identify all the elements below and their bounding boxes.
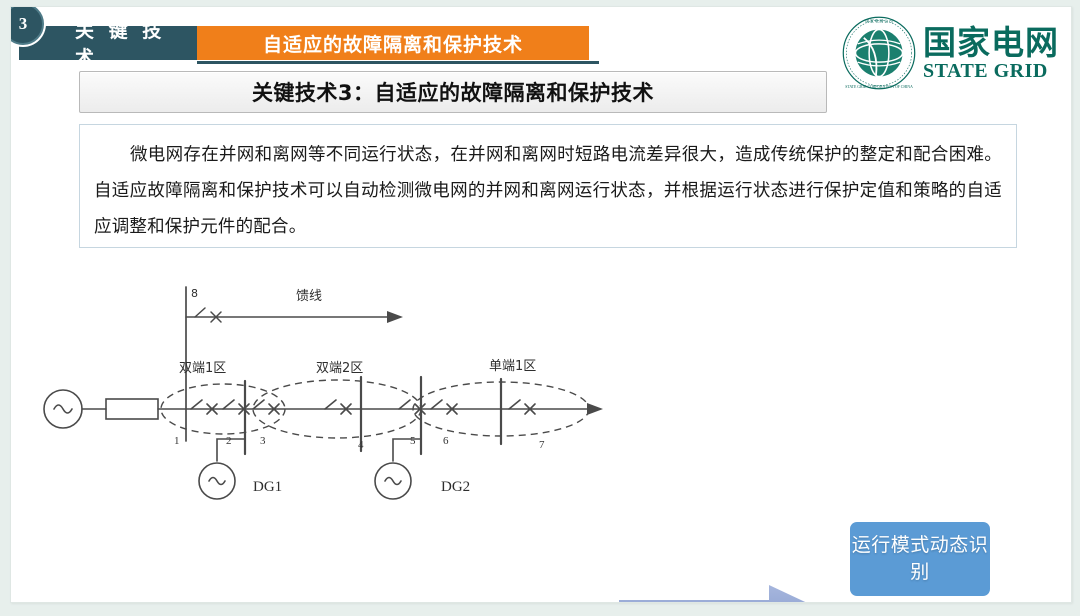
flow-box-mode-recognition: 运行模式动态识别 <box>850 522 990 596</box>
section-tab[interactable]: 关 键 技 术 <box>19 26 197 60</box>
page-title: 关键技术3：自适应的故障隔离和保护技术 <box>252 77 654 107</box>
topic-label: 自适应的故障隔离和保护技术 <box>263 30 523 57</box>
slide-canvas: 关 键 技 术 自适应的故障隔离和保护技术 3 国 家 电 网 公 司 STAT… <box>10 6 1072 603</box>
zone-label-2: 双端2区 <box>316 357 363 376</box>
header-bar: 关 键 技 术 自适应的故障隔离和保护技术 <box>19 26 589 60</box>
flow-box-1-label: 运行模式动态识别 <box>850 532 990 586</box>
dg1-label: DG1 <box>253 479 282 496</box>
body-paragraph: 微电网存在并网和离网等不同运行状态，在并网和离网时短路电流差异很大，造成传统保护… <box>94 137 1002 245</box>
svg-text:国 家 电 网 公 司: 国 家 电 网 公 司 <box>865 19 893 24</box>
switch-number-1: 1 <box>174 435 180 447</box>
dg2-label: DG2 <box>441 479 470 496</box>
switch-number-4: 4 <box>358 439 364 451</box>
arrow-shape-blue <box>619 585 835 603</box>
slide-title-box: 关键技术3：自适应的故障隔离和保护技术 <box>79 71 827 113</box>
feeder-label: 馈线 <box>296 285 322 304</box>
arrow-label-blue: 并网运行 <box>665 602 749 604</box>
microgrid-circuit-diagram <box>31 269 611 519</box>
section-label: 关 键 技 术 <box>75 16 197 70</box>
grid-connected-arrow-blue: 并网运行 <box>619 585 835 603</box>
zone-label-1: 双端1区 <box>179 357 226 376</box>
state-grid-logo: 国 家 电 网 公 司 STATE GRID CORPORATION OF CH… <box>841 15 1059 91</box>
logo-english-name: STATE GRID <box>923 61 1059 81</box>
switch-number-3: 3 <box>260 435 266 447</box>
svg-text:STATE GRID CORPORATION OF CHIN: STATE GRID CORPORATION OF CHINA <box>845 85 913 89</box>
switch-number-2: 2 <box>226 435 232 447</box>
down-arrow-icon-1 <box>900 600 940 603</box>
switch-number-7: 7 <box>539 439 545 451</box>
figure-area: 8 馈线 双端1区 双端2区 单端1区 1 2 3 4 5 6 7 DG1 DG… <box>11 257 1072 603</box>
switch-number-5: 5 <box>410 435 416 447</box>
logo-chinese-name: 国家电网 <box>923 26 1059 59</box>
body-text-box: 微电网存在并网和离网等不同运行状态，在并网和离网时短路电流差异很大，造成传统保护… <box>79 124 1017 248</box>
feeder-switch-number: 8 <box>191 287 198 300</box>
state-grid-globe-icon: 国 家 电 网 公 司 STATE GRID CORPORATION OF CH… <box>841 15 917 91</box>
logo-wordmark: 国家电网 STATE GRID <box>923 26 1059 81</box>
switch-number-6: 6 <box>443 435 449 447</box>
zone-label-3: 单端1区 <box>489 355 536 374</box>
section-number: 3 <box>19 14 28 34</box>
topic-tab[interactable]: 自适应的故障隔离和保护技术 <box>197 26 589 60</box>
